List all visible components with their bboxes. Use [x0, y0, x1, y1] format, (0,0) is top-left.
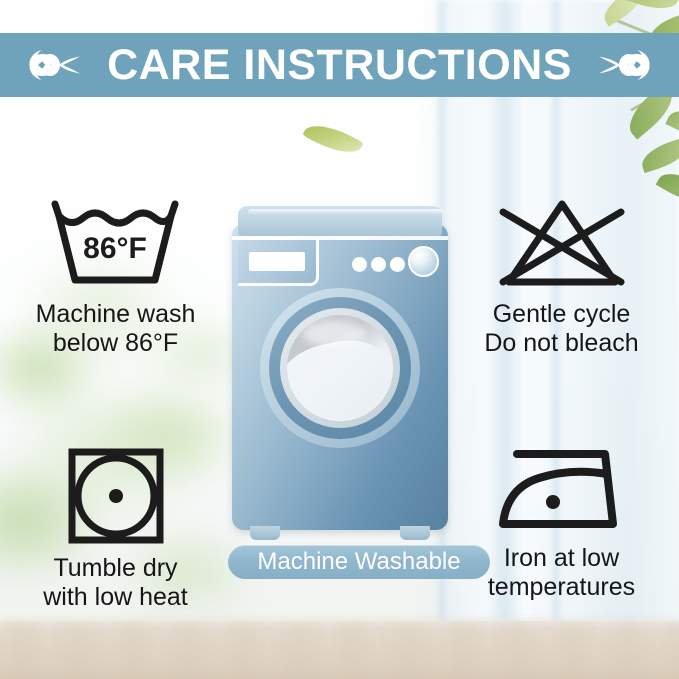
- wood-grain: [0, 621, 679, 679]
- machine-washable-badge: Machine Washable: [228, 545, 490, 579]
- tumble-dry-low-icon: [66, 446, 166, 546]
- machine-button: [371, 257, 386, 272]
- care-symbol-iron: Iron at low temperatures: [454, 446, 669, 602]
- machine-button: [352, 257, 367, 272]
- washing-machine-illustration: [232, 206, 448, 536]
- care-symbol-machine-wash: 86°F Machine wash below 86°F: [8, 196, 223, 358]
- wash-temperature-label: 86°F: [83, 232, 147, 265]
- header-banner: CARE INSTRUCTIONS: [0, 33, 679, 97]
- machine-detergent-drawer: [238, 240, 319, 286]
- iron-low-icon: [495, 446, 629, 536]
- care-symbol-do-not-bleach: Gentle cycle Do not bleach: [454, 196, 669, 358]
- wash-tub-icon: 86°F: [45, 196, 187, 292]
- fleur-de-lis-icon: [21, 43, 81, 87]
- machine-door-glass: [287, 315, 393, 421]
- fleur-de-lis-icon: [598, 43, 658, 87]
- machine-button: [390, 257, 405, 272]
- machine-display: [249, 252, 305, 271]
- care-caption: Gentle cycle Do not bleach: [484, 300, 638, 358]
- leaf-icon: [638, 137, 679, 173]
- triangle-crossed-icon: [487, 196, 637, 292]
- care-symbol-tumble-dry: Tumble dry with low heat: [8, 446, 223, 612]
- page-title: CARE INSTRUCTIONS: [107, 44, 572, 87]
- machine-program-dial: [408, 246, 439, 277]
- badge-label: Machine Washable: [257, 550, 460, 574]
- care-instructions-infographic: CARE INSTRUCTIONS 86°F Machine wash belo…: [0, 0, 679, 679]
- machine-door-glass-highlight: [303, 321, 365, 347]
- machine-top-lid: [238, 206, 442, 236]
- care-caption: Machine wash below 86°F: [36, 300, 196, 358]
- machine-foot: [250, 526, 280, 540]
- machine-top-highlight: [248, 209, 444, 215]
- care-caption: Iron at low temperatures: [488, 544, 635, 602]
- care-caption: Tumble dry with low heat: [43, 554, 188, 612]
- machine-foot: [400, 526, 430, 540]
